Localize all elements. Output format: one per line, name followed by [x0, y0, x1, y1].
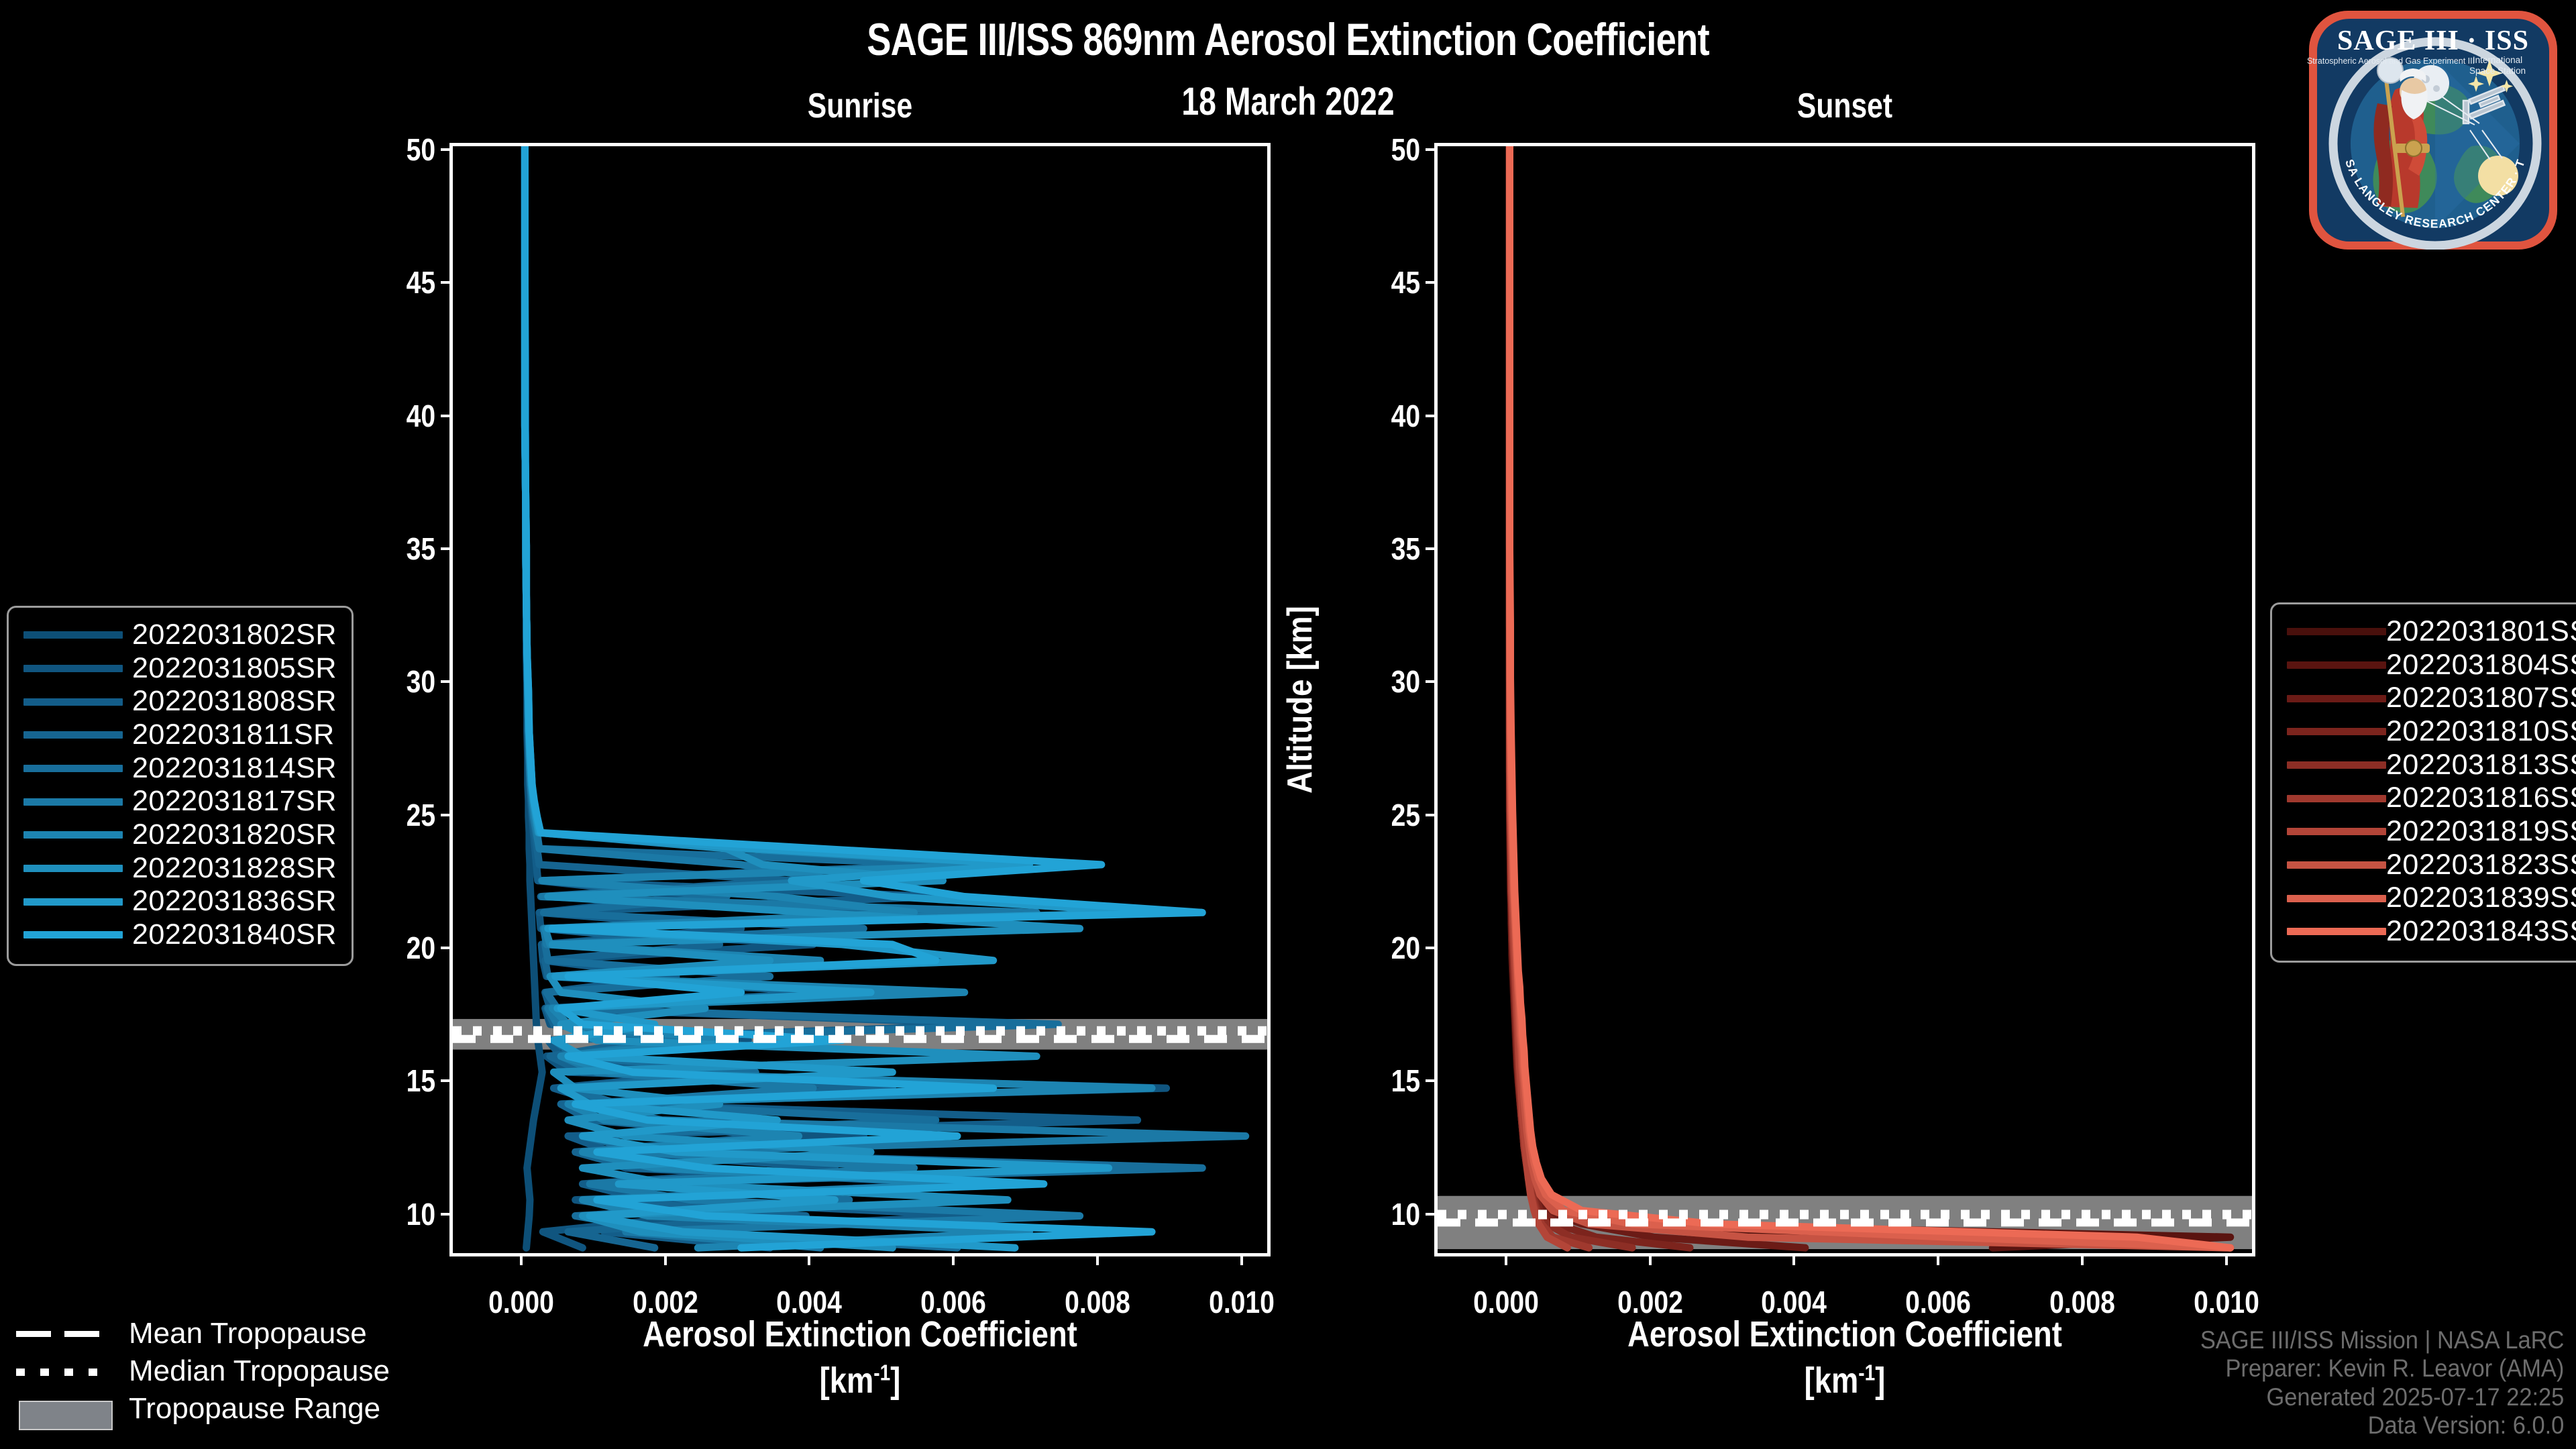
legend-color-swatch: [23, 931, 123, 938]
legend-color-swatch: [23, 698, 123, 706]
y-tick-label: 35: [407, 531, 435, 567]
legend-item[interactable]: 2022031823SS: [2287, 849, 2576, 882]
y-tick-label: 35: [1391, 531, 1420, 567]
y-tick-mark: [1426, 814, 1438, 816]
legend-series-label: 2022031836SR: [132, 885, 337, 918]
y-tick-label: 45: [1391, 264, 1420, 301]
x-tick-mark: [520, 1253, 523, 1265]
series-line: [1509, 146, 2230, 1248]
legend-series-label: 2022031828SR: [132, 852, 337, 885]
legend-series-label: 2022031810SS: [2386, 715, 2576, 749]
legend-color-swatch: [23, 831, 123, 839]
legend-item[interactable]: 2022031817SR: [23, 785, 337, 818]
x-tick-mark: [2081, 1253, 2084, 1265]
x-axis-label-sunset: Aerosol Extinction Coefficient [km-1]: [1500, 1311, 2190, 1404]
credits-line-generated: Generated 2025-07-17 22:25: [2200, 1383, 2564, 1411]
legend-item[interactable]: 2022031819SS: [2287, 815, 2576, 849]
y-tick-mark: [1426, 547, 1438, 550]
legend-series-label: 2022031804SS: [2386, 649, 2576, 682]
legend-label-tropopause-range: Tropopause Range: [129, 1392, 380, 1426]
legend-color-swatch: [2287, 761, 2386, 769]
credits-block: SAGE III/ISS Mission | NASA LaRC Prepare…: [2200, 1326, 2564, 1440]
legend-item[interactable]: 2022031839SS: [2287, 881, 2576, 915]
y-tick-label: 25: [1391, 797, 1420, 833]
page-title: SAGE III/ISS 869nm Aerosol Extinction Co…: [258, 13, 2318, 66]
y-tick-mark: [441, 547, 453, 550]
y-tick-mark: [1426, 947, 1438, 949]
y-tick-mark: [1426, 680, 1438, 683]
legend-series-label: 2022031811SR: [132, 718, 337, 752]
legend-color-swatch: [23, 731, 123, 739]
plot-panel-sunset: 1015202530354045500.0000.0020.0040.0060.…: [1434, 143, 2255, 1256]
y-tick-mark: [441, 148, 453, 151]
legend-color-swatch: [23, 898, 123, 906]
y-tick-mark: [441, 814, 453, 816]
legend-item[interactable]: 2022031801SS: [2287, 615, 2576, 649]
legend-color-swatch: [2287, 695, 2386, 702]
legend-item[interactable]: 2022031840SR: [23, 918, 337, 952]
y-tick-mark: [441, 947, 453, 949]
legend-series-label: 2022031839SS: [2386, 881, 2576, 915]
logo-title: SAGE III · ISS: [2337, 25, 2529, 56]
y-tick-mark: [441, 415, 453, 417]
legend-item[interactable]: 2022031820SR: [23, 818, 337, 852]
legend-color-swatch: [2287, 795, 2386, 802]
legend-row-median-tropopause: Median Tropopause: [13, 1352, 390, 1390]
plot-canvas-sunrise: [453, 146, 1267, 1253]
tropopause-legend: Mean Tropopause Median Tropopause Tropop…: [13, 1315, 390, 1428]
legend-color-swatch: [2287, 828, 2386, 835]
y-tick-label: 45: [407, 264, 435, 301]
y-tick-label: 40: [407, 398, 435, 434]
dotted-line-icon: [13, 1363, 115, 1379]
x-tick-mark: [664, 1253, 667, 1265]
y-tick-label: 20: [1391, 930, 1420, 966]
legend-item[interactable]: 2022031816SS: [2287, 782, 2576, 815]
y-tick-mark: [441, 1079, 453, 1082]
y-tick-mark: [1426, 415, 1438, 417]
series-line: [1509, 146, 1567, 1248]
x-tick-mark: [1096, 1253, 1099, 1265]
legend-sunset[interactable]: 2022031801SS2022031804SS2022031807SS2022…: [2270, 602, 2576, 963]
y-tick-label: 30: [1391, 663, 1420, 700]
x-axis-label-text: Aerosol Extinction Coefficient: [1627, 1314, 2062, 1354]
legend-color-swatch: [2287, 661, 2386, 669]
x-tick-mark: [1505, 1253, 1507, 1265]
legend-series-label: 2022031819SS: [2386, 815, 2576, 849]
legend-series-label: 2022031807SS: [2386, 682, 2576, 715]
legend-color-swatch: [2287, 928, 2386, 935]
dashed-line-icon: [13, 1326, 115, 1342]
legend-color-swatch: [23, 765, 123, 772]
y-tick-mark: [441, 1213, 453, 1216]
legend-series-label: 2022031817SR: [132, 785, 337, 818]
plot-canvas-sunset: [1438, 146, 2252, 1253]
series-line: [1509, 146, 2230, 1248]
x-tick-mark: [1792, 1253, 1795, 1265]
x-tick-label: 0.010: [1209, 1284, 1275, 1320]
x-tick-label: 0.010: [2194, 1284, 2259, 1320]
credits-line-preparer: Preparer: Kevin R. Leavor (AMA): [2200, 1354, 2564, 1383]
series-line: [1509, 146, 2230, 1248]
y-tick-mark: [441, 680, 453, 683]
x-tick-mark: [1240, 1253, 1243, 1265]
legend-item[interactable]: 2022031808SR: [23, 685, 337, 718]
y-tick-label: 25: [407, 797, 435, 833]
panel-title-sunrise: Sunrise: [523, 86, 1197, 126]
legend-color-swatch: [23, 798, 123, 806]
x-tick-mark: [1937, 1253, 1939, 1265]
y-tick-label: 15: [407, 1063, 435, 1099]
legend-item[interactable]: 2022031810SS: [2287, 715, 2576, 749]
legend-series-label: 2022031801SS: [2386, 615, 2576, 649]
logo-subtitle-right-1: International: [2473, 55, 2522, 65]
panel-title-sunset: Sunset: [1508, 86, 2182, 126]
series-line: [1509, 146, 1805, 1248]
y-axis-label-sunset: Altitude [km]: [1280, 606, 1320, 794]
legend-series-label: 2022031802SR: [132, 619, 337, 652]
legend-series-label: 2022031816SS: [2386, 782, 2576, 815]
x-axis-unit: [km-1]: [515, 1358, 1205, 1404]
y-tick-label: 50: [1391, 131, 1420, 168]
legend-item[interactable]: 2022031804SS: [2287, 649, 2576, 682]
legend-item[interactable]: 2022031811SR: [23, 718, 337, 752]
x-tick-mark: [808, 1253, 810, 1265]
legend-row-tropopause-range: Tropopause Range: [13, 1390, 390, 1428]
y-tick-label: 30: [407, 663, 435, 700]
credits-line-mission: SAGE III/ISS Mission | NASA LaRC: [2200, 1326, 2564, 1354]
legend-color-swatch: [2287, 861, 2386, 869]
legend-label-mean-tropopause: Mean Tropopause: [129, 1317, 367, 1350]
x-axis-unit: [km-1]: [1500, 1358, 2190, 1404]
y-tick-label: 20: [407, 930, 435, 966]
legend-item[interactable]: 2022031813SS: [2287, 749, 2576, 782]
legend-item[interactable]: 2022031843SS: [2287, 915, 2576, 949]
legend-row-mean-tropopause: Mean Tropopause: [13, 1315, 390, 1352]
legend-label-median-tropopause: Median Tropopause: [129, 1354, 390, 1388]
legend-sunrise[interactable]: 2022031802SR2022031805SR2022031808SR2022…: [7, 606, 354, 966]
x-axis-label-text: Aerosol Extinction Coefficient: [643, 1314, 1077, 1354]
legend-color-swatch: [2287, 728, 2386, 735]
y-tick-mark: [1426, 1079, 1438, 1082]
series-line: [1509, 146, 2230, 1248]
logo-subtitle-right-2: Space Station: [2469, 66, 2526, 76]
series-line: [1509, 146, 2230, 1248]
logo-subtitle-left: Stratospheric Aerosol and Gas Experiment…: [2307, 56, 2475, 66]
x-axis-label-sunrise: Aerosol Extinction Coefficient [km-1]: [515, 1311, 1205, 1404]
x-tick-mark: [2225, 1253, 2228, 1265]
legend-item[interactable]: 2022031805SR: [23, 652, 337, 686]
filled-band-icon: [13, 1401, 115, 1417]
legend-item[interactable]: 2022031814SR: [23, 752, 337, 786]
y-tick-label: 10: [1391, 1196, 1420, 1232]
y-tick-mark: [441, 281, 453, 284]
legend-series-label: 2022031814SR: [132, 752, 337, 786]
y-tick-mark: [1426, 281, 1438, 284]
x-tick-mark: [1649, 1253, 1652, 1265]
credits-line-data-version: Data Version: 6.0.0: [2200, 1411, 2564, 1440]
legend-item[interactable]: 2022031836SR: [23, 885, 337, 918]
legend-color-swatch: [23, 631, 123, 639]
legend-color-swatch: [2287, 895, 2386, 902]
series-line: [1509, 146, 1690, 1248]
y-tick-label: 10: [407, 1196, 435, 1232]
legend-series-label: 2022031823SS: [2386, 849, 2576, 882]
plot-panel-sunrise: 1015202530354045500.0000.0020.0040.0060.…: [449, 143, 1271, 1256]
x-tick-mark: [952, 1253, 955, 1265]
legend-series-label: 2022031813SS: [2386, 749, 2576, 782]
legend-color-swatch: [23, 665, 123, 672]
logo-badge-icon: BALL · NASA LANGLEY RESEARCH CENTER · TA…: [2304, 5, 2563, 255]
legend-series-label: 2022031820SR: [132, 818, 337, 852]
legend-color-swatch: [23, 865, 123, 872]
y-tick-mark: [1426, 1213, 1438, 1216]
legend-item[interactable]: 2022031828SR: [23, 852, 337, 885]
legend-item[interactable]: 2022031802SR: [23, 619, 337, 652]
legend-series-label: 2022031843SS: [2386, 915, 2576, 949]
y-tick-mark: [1426, 148, 1438, 151]
y-tick-label: 50: [407, 131, 435, 168]
y-tick-label: 15: [1391, 1063, 1420, 1099]
sage-iii-iss-logo: BALL · NASA LANGLEY RESEARCH CENTER · TA…: [2304, 5, 2563, 255]
y-tick-label: 40: [1391, 398, 1420, 434]
legend-series-label: 2022031805SR: [132, 652, 337, 686]
legend-series-label: 2022031808SR: [132, 685, 337, 718]
legend-color-swatch: [2287, 628, 2386, 635]
legend-item[interactable]: 2022031807SS: [2287, 682, 2576, 715]
legend-series-label: 2022031840SR: [132, 918, 337, 952]
